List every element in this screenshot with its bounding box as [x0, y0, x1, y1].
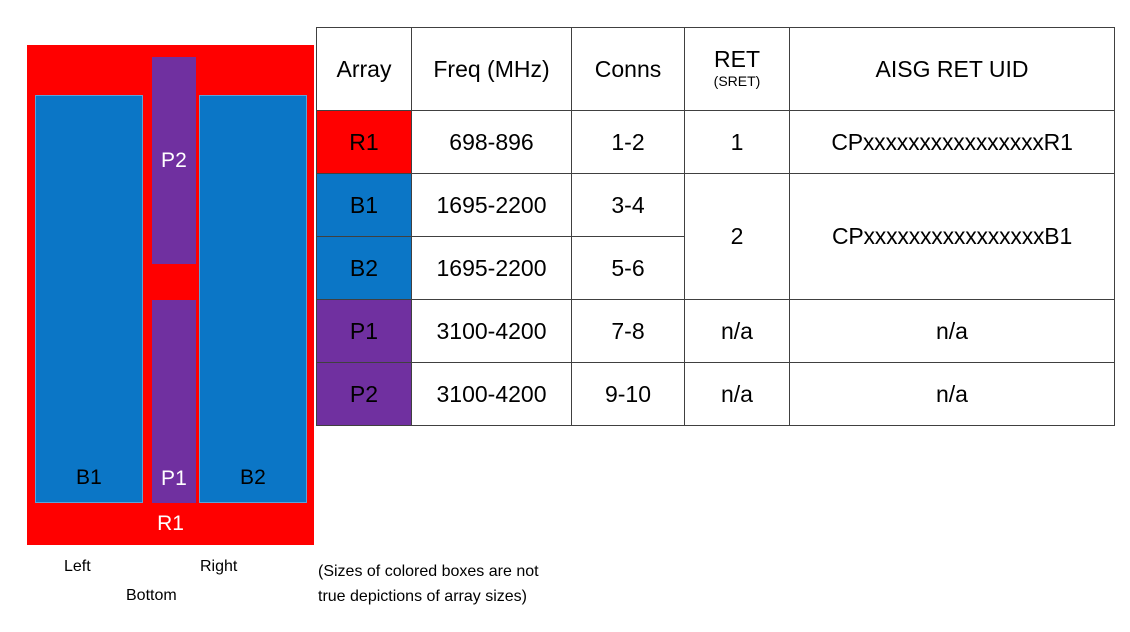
diagram-array-p1-label: P1	[161, 468, 187, 503]
cell-ret-p2: n/a	[685, 363, 790, 426]
cell-array-b2: B2	[317, 237, 412, 300]
cell-freq-b1: 1695-2200	[412, 174, 572, 237]
cell-conns-b2: 5-6	[572, 237, 685, 300]
cell-array-p1: P1	[317, 300, 412, 363]
cell-array-b1: B1	[317, 174, 412, 237]
column-header-aisg-ret-uid: AISG RET UID	[790, 28, 1115, 111]
cell-uid-r1: CPxxxxxxxxxxxxxxxxR1	[790, 111, 1115, 174]
cell-uid-b1-b2-merged: CPxxxxxxxxxxxxxxxxB1	[790, 174, 1115, 300]
diagram-size-disclaimer-line-1: (Sizes of colored boxes are not	[318, 560, 628, 585]
cell-array-p2: P2	[317, 363, 412, 426]
column-header-freq: Freq (MHz)	[412, 28, 572, 111]
cell-array-r1: R1	[317, 111, 412, 174]
cell-ret-r1: 1	[685, 111, 790, 174]
diagram-array-p2: P2	[152, 57, 196, 264]
table-row: R1 698-896 1-2 1 CPxxxxxxxxxxxxxxxxR1	[317, 111, 1115, 174]
column-header-ret-sub: (SRET)	[685, 72, 789, 91]
column-header-ret-main: RET	[685, 47, 789, 71]
diagram-orientation-left: Left	[64, 558, 91, 576]
diagram-array-b2-label: B2	[240, 467, 266, 502]
cell-conns-p2: 9-10	[572, 363, 685, 426]
cell-conns-r1: 1-2	[572, 111, 685, 174]
table-row: B1 1695-2200 3-4 2 CPxxxxxxxxxxxxxxxxB1	[317, 174, 1115, 237]
table-row: P2 3100-4200 9-10 n/a n/a	[317, 363, 1115, 426]
table-row: P1 3100-4200 7-8 n/a n/a	[317, 300, 1115, 363]
cell-ret-b1-b2-merged: 2	[685, 174, 790, 300]
cell-freq-p1: 3100-4200	[412, 300, 572, 363]
cell-uid-p2: n/a	[790, 363, 1115, 426]
cell-freq-r1: 698-896	[412, 111, 572, 174]
cell-ret-p1: n/a	[685, 300, 790, 363]
array-specification-table: Array Freq (MHz) Conns RET (SRET) AISG R…	[316, 27, 1115, 426]
column-header-array: Array	[317, 28, 412, 111]
diagram-array-r1-label: R1	[27, 503, 314, 545]
diagram-size-disclaimer-line-2: true depictions of array sizes)	[318, 585, 628, 610]
diagram-array-b1-label: B1	[76, 467, 102, 502]
diagram-array-b1: B1	[35, 95, 143, 503]
table-header-row: Array Freq (MHz) Conns RET (SRET) AISG R…	[317, 28, 1115, 111]
diagram-array-p2-label: P2	[161, 150, 187, 171]
diagram-array-p1: P1	[152, 300, 196, 503]
diagram-orientation-bottom: Bottom	[126, 587, 177, 605]
diagram-array-b2: B2	[199, 95, 307, 503]
cell-conns-p1: 7-8	[572, 300, 685, 363]
antenna-array-diagram: B1 P2 P1 B2 R1	[27, 45, 314, 545]
diagram-size-disclaimer: (Sizes of colored boxes are not true dep…	[318, 560, 628, 610]
diagram-orientation-right: Right	[200, 558, 237, 576]
cell-uid-p1: n/a	[790, 300, 1115, 363]
column-header-conns: Conns	[572, 28, 685, 111]
cell-freq-b2: 1695-2200	[412, 237, 572, 300]
cell-freq-p2: 3100-4200	[412, 363, 572, 426]
column-header-ret: RET (SRET)	[685, 28, 790, 111]
cell-conns-b1: 3-4	[572, 174, 685, 237]
